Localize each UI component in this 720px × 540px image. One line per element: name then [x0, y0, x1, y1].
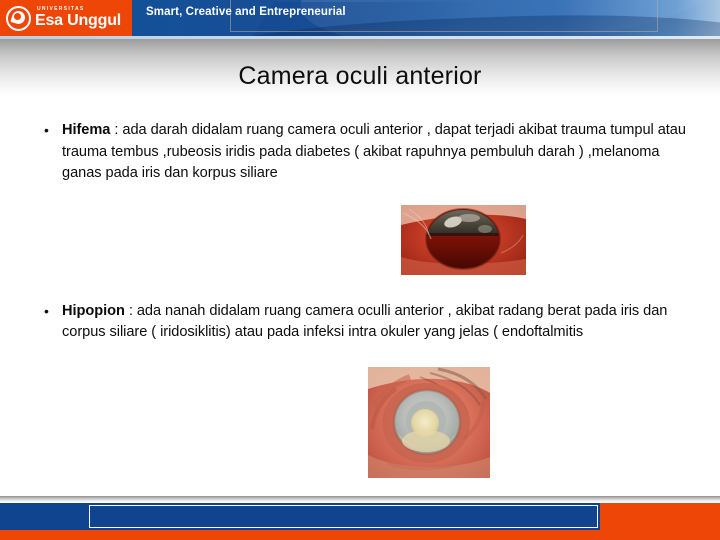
hipopion-eye-photo: [368, 367, 490, 478]
bullet-text-hipopion: Hipopion : ada nanah didalam ruang camer…: [62, 301, 688, 344]
bullet-text-hifema: Hifema : ada darah didalam ruang camera …: [62, 120, 688, 185]
bullet-term-hifema: Hifema: [62, 122, 110, 138]
page-title: Camera oculi anterior: [0, 62, 720, 91]
esa-unggul-swirl-logo-icon: [6, 6, 31, 31]
hifema-eye-photo: [401, 205, 526, 275]
list-item: • Hipopion : ada nanah didalam ruang cam…: [36, 301, 688, 344]
brand-logo: UNIVERSITAS Esa Unggul: [0, 0, 132, 36]
slide-content: • Hifema : ada darah didalam ruang camer…: [36, 120, 688, 344]
logo-name: Esa Unggul: [35, 13, 121, 29]
list-item: • Hifema : ada darah didalam ruang camer…: [36, 120, 688, 185]
bullet-term-hipopion: Hipopion: [62, 303, 125, 319]
footer-orange-block: [600, 503, 720, 530]
logo-superscript: UNIVERSITAS: [37, 7, 121, 12]
footer-orange-strip: [0, 530, 720, 540]
bullet-marker-icon: •: [36, 301, 62, 322]
bullet-marker-icon: •: [36, 120, 62, 141]
page-header: UNIVERSITAS Esa Unggul Smart, Creative a…: [0, 0, 720, 36]
brand-tagline: Smart, Creative and Entrepreneurial: [146, 6, 346, 18]
footer-blue-outline-box: [89, 505, 598, 528]
footer-top-gradient: [0, 496, 720, 502]
bullet-body-hifema: : ada darah didalam ruang camera oculi a…: [62, 122, 686, 181]
bullet-body-hipopion: : ada nanah didalam ruang camera oculli …: [62, 303, 667, 341]
